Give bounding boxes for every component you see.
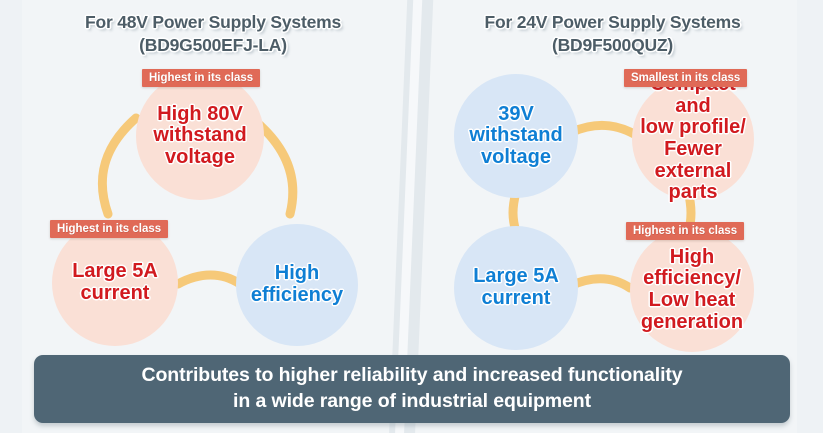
bubble-39v-withstand-voltage[interactable]: 39V withstand voltage (454, 74, 578, 198)
bubble-large-5a-current-48v[interactable]: Large 5A current (52, 220, 178, 346)
bubble-label: Large 5A current (72, 261, 158, 304)
bubble-label: High efficiency (251, 263, 343, 306)
summary-banner: Contributes to higher reliability and in… (34, 355, 790, 423)
panel-24v: For 24V Power Supply Systems (BD9F500QUZ… (420, 0, 805, 348)
badge-smallest-in-its-class: Smallest in its class (624, 69, 747, 87)
infographic-root: For 48V Power Supply Systems (BD9G500EFJ… (0, 0, 823, 433)
bubble-label: Compact and low profile/ Fewer external … (632, 74, 754, 204)
badge-highest-in-its-class-48v-voltage: Highest in its class (142, 69, 260, 87)
summary-banner-text: Contributes to higher reliability and in… (141, 363, 682, 415)
badge-highest-in-its-class-48v-current: Highest in its class (50, 220, 168, 238)
bubble-label: Large 5A current (473, 266, 559, 309)
bubble-high-efficiency-48v[interactable]: High efficiency (236, 224, 358, 346)
bubble-label: High 80V withstand voltage (153, 104, 246, 169)
bubble-high-efficiency-low-heat[interactable]: High efficiency/ Low heat generation (630, 228, 754, 352)
bubble-high-80v-withstand-voltage[interactable]: High 80V withstand voltage (136, 72, 264, 200)
bubble-label: 39V withstand voltage (469, 104, 562, 169)
bubble-compact-low-profile[interactable]: Compact and low profile/ Fewer external … (632, 78, 754, 200)
bubble-large-5a-current-24v[interactable]: Large 5A current (454, 226, 578, 350)
badge-highest-in-its-class-24v: Highest in its class (626, 222, 744, 240)
panel-48v: For 48V Power Supply Systems (BD9G500EFJ… (18, 0, 408, 348)
bubble-label: High efficiency/ Low heat generation (630, 247, 754, 333)
